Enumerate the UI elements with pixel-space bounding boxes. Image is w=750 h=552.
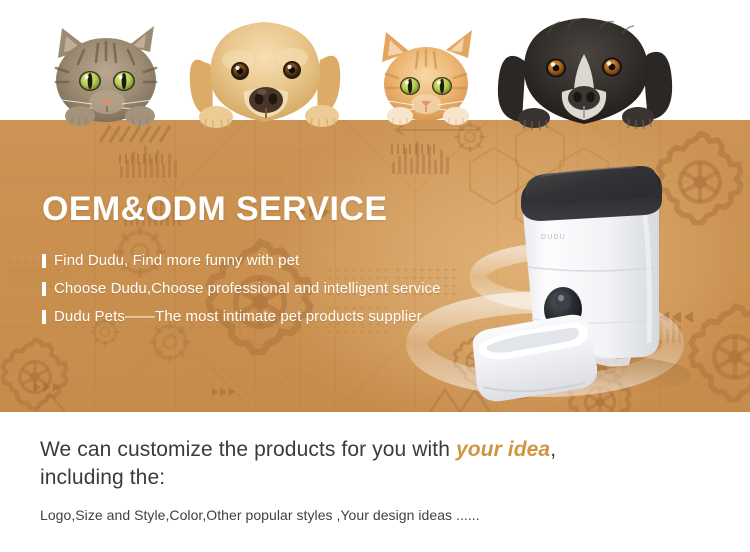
pet-tabby-cat bbox=[56, 26, 156, 126]
pets-photo-strip bbox=[0, 0, 750, 120]
lead-suffix: , bbox=[550, 438, 556, 461]
customize-lead-text: We can customize the products for you wi… bbox=[40, 436, 730, 492]
customization-options-text: Logo,Size and Style,Color,Other popular … bbox=[40, 507, 480, 523]
bullet-bar-icon bbox=[42, 282, 46, 296]
bullet-bar-icon bbox=[42, 310, 46, 324]
bullet-bar-icon bbox=[42, 254, 46, 268]
bullet-label: Find Dudu, Find more funny with pet bbox=[54, 253, 299, 268]
pet-orange-cat bbox=[382, 30, 472, 125]
banner-text-block: OEM&ODM SERVICE Find Dudu, Find more fun… bbox=[42, 192, 441, 333]
page-title: OEM&ODM SERVICE bbox=[42, 192, 441, 226]
bottom-copy-section: We can customize the products for you wi… bbox=[0, 412, 750, 552]
highlight-your-idea: your idea bbox=[456, 438, 550, 461]
lead-prefix: We can customize the products for you wi… bbox=[40, 438, 456, 461]
bullet-list: Find Dudu, Find more funny with pet Choo… bbox=[42, 249, 441, 328]
pet-golden-retriever bbox=[190, 22, 340, 129]
list-item: Find Dudu, Find more funny with pet bbox=[42, 249, 441, 272]
pet-border-collie bbox=[498, 18, 672, 130]
list-item: Choose Dudu,Choose professional and inte… bbox=[42, 277, 441, 300]
lead-line2: including the: bbox=[40, 466, 165, 489]
product-brand-mark: DUDU bbox=[541, 234, 566, 241]
bullet-label: Choose Dudu,Choose professional and inte… bbox=[54, 281, 441, 296]
bullet-label: Dudu Pets——The most intimate pet product… bbox=[54, 309, 422, 324]
list-item: Dudu Pets——The most intimate pet product… bbox=[42, 305, 441, 328]
product-image-automatic-pet-feeder: DUDU bbox=[445, 143, 745, 413]
promo-banner-page: OEM&ODM SERVICE Find Dudu, Find more fun… bbox=[0, 0, 750, 552]
